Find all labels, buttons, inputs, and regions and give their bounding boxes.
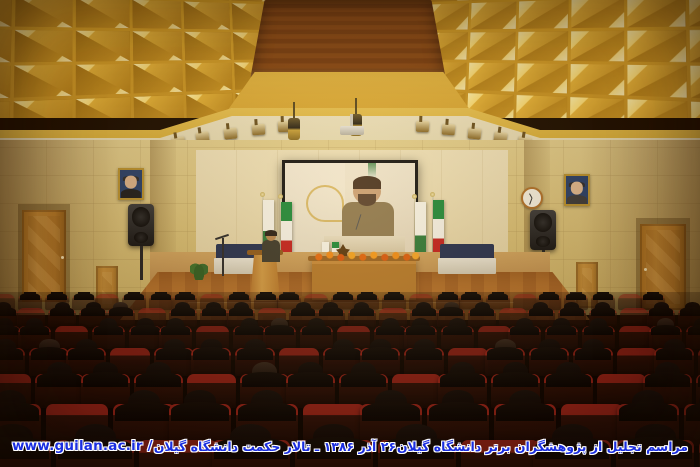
- audience-member-shoulders: [302, 325, 331, 335]
- audience-member-shoulders: [0, 307, 16, 316]
- audience-member-shoulders: [440, 372, 485, 387]
- audience-member-shoulders: [619, 402, 677, 421]
- audience-member-shoulders: [325, 347, 361, 360]
- spotlight-icon: [252, 124, 266, 136]
- ceiling-light-panel: [690, 65, 700, 100]
- pa-speaker-left: [128, 204, 154, 246]
- audience-member-shoulders: [81, 307, 105, 316]
- audience-member-shoulders: [171, 307, 195, 316]
- audience-member-shoulders: [202, 307, 226, 316]
- audience-member-shoulders: [438, 293, 458, 300]
- audience-member-shoulders: [291, 307, 315, 316]
- audience-member-shoulders: [50, 307, 74, 316]
- screen-speaker-beard: [358, 194, 376, 206]
- audience-member-shoulders: [618, 437, 692, 459]
- ceiling-light-panel: [627, 0, 685, 28]
- audience-member-shoulders: [47, 293, 67, 300]
- flag-finial: [430, 192, 435, 197]
- door-left[interactable]: [22, 210, 66, 302]
- portrait-face: [571, 181, 583, 194]
- audience-member-shoulders: [593, 293, 613, 300]
- audience-member-shoulders: [470, 307, 494, 316]
- door-knob-left: [61, 256, 64, 259]
- ceiling-light-panel: [14, 30, 73, 62]
- ceiling-light-panel: [14, 0, 72, 28]
- audience-member-shoulders: [496, 402, 554, 421]
- audience-area: [0, 292, 700, 467]
- audience-member-shoulders: [547, 325, 576, 335]
- audience-member-shoulders: [171, 402, 229, 421]
- presenter-speaker: [262, 231, 280, 261]
- audience-member-shoulders: [31, 347, 67, 360]
- audience-member-shoulders: [488, 293, 508, 300]
- ceiling-light-panel: [427, 0, 470, 2]
- ceiling-light-panel: [76, 97, 131, 118]
- audience-member-shoulders: [591, 307, 615, 316]
- ceiling-light-panel: [132, 31, 182, 61]
- audience-member-shoulders: [288, 372, 333, 387]
- screen-emblem: [306, 185, 344, 222]
- audience-member-shoulders: [161, 325, 190, 335]
- audience-member-shoulders: [529, 307, 553, 316]
- wall-clock-icon: [521, 187, 543, 209]
- audience-member-shoulders: [319, 307, 343, 316]
- audience-member-shoulders: [566, 293, 586, 300]
- audience-member-shoulders: [688, 325, 700, 335]
- potted-plant: [190, 258, 208, 280]
- ceiling-light-panel: [0, 29, 11, 63]
- screen-speaker-hair: [353, 176, 382, 190]
- audience-member-shoulders: [237, 347, 273, 360]
- audience-member-shoulders: [575, 347, 611, 360]
- projection-screen: [285, 163, 415, 261]
- spotlight-icon: [442, 124, 456, 136]
- audience-member-shoulders: [242, 372, 287, 387]
- audience-seat: [617, 348, 657, 376]
- audience-member-shoulders: [256, 293, 276, 300]
- audience-member-shoulders: [539, 293, 559, 300]
- audience-member-shoulders: [229, 307, 253, 316]
- audience-member-shoulders: [376, 325, 405, 335]
- audience-member-shoulders: [136, 372, 181, 387]
- flower-arrangement: [310, 251, 420, 261]
- audience-member-shoulders: [20, 325, 49, 335]
- pa-speaker-right: [530, 210, 556, 250]
- clock-minute-hand: [529, 198, 532, 205]
- door-knob-right: [644, 268, 647, 271]
- audience-member-shoulders: [0, 347, 23, 360]
- audience-member-shoulders: [341, 372, 386, 387]
- audience-member-shoulders: [406, 325, 435, 335]
- ceiling-light-panel: [132, 0, 182, 29]
- audience-member-shoulders: [406, 347, 442, 360]
- audience-member-shoulders: [193, 347, 229, 360]
- ceiling-light-panel: [469, 32, 516, 60]
- audience-member-shoulders: [156, 347, 192, 360]
- ceiling-light-panel: [183, 1, 229, 29]
- audience-member-shoulders: [362, 402, 420, 421]
- stage-side-table-right: [438, 258, 496, 274]
- audience-member-shoulders: [279, 293, 299, 300]
- ceiling-light-panel: [689, 29, 700, 63]
- pa-speaker-stand-left: [140, 246, 143, 280]
- audience-member-shoulders: [656, 347, 692, 360]
- audience-member-shoulders: [68, 347, 104, 360]
- presenter-hair: [265, 230, 277, 236]
- audience-member-shoulders: [0, 437, 49, 459]
- wood-soffit-panel: [250, 0, 445, 78]
- audience-member-shoulders: [487, 347, 523, 360]
- audience-seat: [461, 440, 539, 467]
- audience-member-shoulders: [214, 437, 288, 459]
- ceiling-light-panel: [569, 97, 624, 118]
- ceiling-light-panel: [571, 0, 624, 28]
- spotlight-icon: [416, 121, 429, 132]
- audience-member-shoulders: [680, 307, 700, 316]
- audience-member-shoulders: [651, 325, 680, 335]
- ceiling-light-panel: [468, 63, 515, 92]
- portrait-face: [125, 175, 137, 188]
- audience-member-shoulders: [20, 293, 40, 300]
- ceiling-light-panel: [184, 32, 231, 60]
- audience-member-shoulders: [297, 437, 371, 459]
- ceiling-light-panel: [688, 0, 700, 27]
- audience-member-shoulders: [643, 293, 663, 300]
- ceiling-light-panel: [628, 99, 688, 118]
- audience-member-shoulders: [461, 293, 481, 300]
- audience-seat: [139, 440, 217, 467]
- audience-member-shoulders: [94, 325, 123, 335]
- screen-speaker-body: [342, 202, 394, 235]
- auditorium-photo: www.guilan.ac.ir / ۲۶ آذر ۱۳۸۶ ـ تالار ح…: [0, 0, 700, 467]
- audience-member-shoulders: [412, 307, 436, 316]
- audience-member-shoulders: [0, 325, 19, 335]
- flag-finial: [278, 194, 283, 199]
- microphone-stand: [222, 238, 224, 276]
- ceiling-light-panel: [570, 31, 624, 62]
- ceiling-light-panel: [76, 31, 130, 62]
- audience-member-shoulders: [645, 372, 690, 387]
- flag-university-right: [415, 202, 426, 258]
- portrait-robe: [121, 189, 141, 198]
- audience-member-shoulders: [0, 402, 39, 421]
- spotlight-icon: [467, 127, 481, 139]
- audience-member-shoulders: [83, 372, 128, 387]
- ceiling-light-panel: [517, 63, 568, 94]
- ceiling-light-panel: [76, 0, 129, 28]
- flag-finial: [412, 194, 417, 199]
- audience-member-shoulders: [493, 372, 538, 387]
- audience-member-shoulders: [535, 437, 609, 459]
- portrait-khamenei: [564, 174, 590, 206]
- pendant-light-icon: [288, 118, 300, 140]
- audience-member-shoulders: [235, 325, 264, 335]
- audience-member-shoulders: [131, 325, 160, 335]
- audience-member-shoulders: [37, 372, 82, 387]
- ceiling-light-panel: [518, 0, 568, 29]
- portrait-robe: [567, 195, 587, 204]
- audience-member-shoulders: [109, 307, 133, 316]
- ceiling-light-panel: [0, 102, 10, 118]
- ceiling-light-panel: [516, 95, 567, 118]
- audience-member-shoulders: [384, 293, 404, 300]
- audience-member-shoulders: [58, 437, 132, 459]
- ceiling-light-panel: [13, 99, 73, 118]
- ceiling-light-panel: [627, 30, 686, 62]
- audience-member-shoulders: [439, 307, 463, 316]
- projection-screen-frame: [282, 160, 418, 264]
- ceiling-light-panel: [0, 65, 10, 100]
- ceiling-light-panel: [690, 102, 700, 118]
- ceiling-light-panel: [13, 65, 72, 98]
- audience-member-shoulders: [546, 372, 591, 387]
- flag-finial: [260, 192, 265, 197]
- audience-member-shoulders: [115, 402, 173, 421]
- audience-seat: [620, 308, 648, 327]
- ceiling-light-panel: [570, 64, 624, 96]
- audience-member-shoulders: [350, 307, 374, 316]
- audience-member-shoulders: [560, 307, 584, 316]
- audience-member-shoulders: [265, 325, 294, 335]
- ceiling-light-panel: [518, 31, 568, 61]
- audience-member-shoulders: [124, 293, 144, 300]
- audience-member-shoulders: [357, 293, 377, 300]
- ceiling-light-panel: [470, 1, 516, 29]
- ceiling-light-panel: [185, 63, 232, 92]
- audience-member-shoulders: [380, 437, 454, 459]
- ceiling-light-panel: [0, 0, 12, 27]
- audience-member-shoulders: [151, 293, 171, 300]
- audience-member-shoulders: [74, 293, 94, 300]
- ceiling-light-panel: [76, 64, 130, 96]
- audience-member-shoulders: [229, 293, 249, 300]
- ceiling-light-panel: [133, 63, 184, 94]
- spotlight-icon: [223, 127, 237, 139]
- ceiling-projector: [340, 126, 364, 135]
- audience-member-shoulders: [175, 293, 195, 300]
- portrait-khomeini: [118, 168, 144, 200]
- ceiling-light-panel: [133, 95, 184, 118]
- audience-member-shoulders: [649, 307, 673, 316]
- audience-seat: [619, 326, 652, 349]
- audience-member-shoulders: [238, 402, 296, 421]
- audience-member-shoulders: [333, 293, 353, 300]
- ceiling-light-panel: [627, 65, 686, 98]
- audience-member-shoulders: [362, 347, 398, 360]
- audience-member-shoulders: [429, 402, 487, 421]
- audience-member-shoulders: [584, 325, 613, 335]
- audience-member-shoulders: [510, 325, 539, 335]
- presenter-body: [262, 240, 280, 262]
- audience-member-shoulders: [531, 347, 567, 360]
- audience-member-shoulders: [443, 325, 472, 335]
